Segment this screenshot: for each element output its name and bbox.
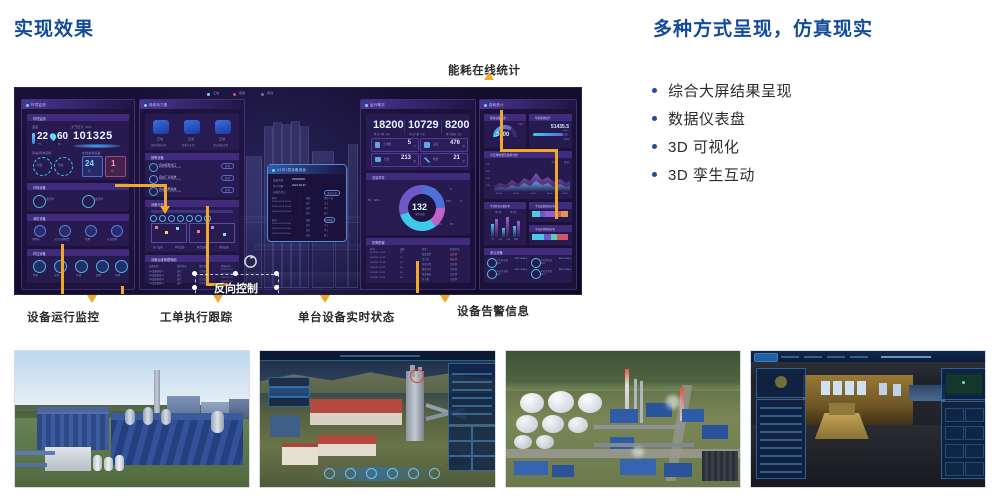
scene-metric-1 — [448, 426, 472, 441]
bullet-label: 综合大屏结果呈现 — [668, 80, 792, 101]
donut-value-4: 35 — [450, 223, 453, 226]
alarm-count-value: 1 — [111, 159, 115, 168]
wind-label: 风速/风向实时 — [32, 151, 52, 155]
resize-handle-ne[interactable] — [274, 271, 279, 276]
bullet-dot-icon — [652, 116, 657, 121]
tile-icon-1 — [153, 120, 169, 134]
gauge-pct: 70% — [518, 123, 523, 126]
alarm-action-button[interactable]: 处理 — [221, 187, 234, 193]
scene-menu-item-1[interactable] — [268, 377, 310, 387]
alarm-name: 自动报警出口 — [159, 163, 176, 167]
donut-label-2: 5% — [432, 188, 436, 191]
kpi-label-2: 今日产量（吨） — [409, 132, 426, 136]
callout-label-1: 设备运行监控 — [27, 309, 100, 325]
popup-field-label: 设备名称 — [273, 178, 283, 182]
callout-label-4: 设备告警信息 — [457, 303, 530, 319]
thermometer-icon — [32, 133, 35, 144]
gallery-item-3[interactable] — [505, 350, 741, 488]
arrow-head-down-icon — [440, 295, 450, 303]
section-title: 今日区域水量分析 — [484, 202, 526, 209]
temperature-value: 22 — [37, 131, 48, 142]
kpi-value-3: 8200 — [445, 119, 469, 131]
col-header: 设备名称 — [149, 264, 159, 268]
arrow-head-down-icon — [87, 295, 97, 303]
trend-area-svg — [494, 164, 570, 192]
arrow-head-down-icon — [320, 295, 330, 303]
panel-operations[interactable]: 网络电力图 正常 正常 正常 供电系统正常 给排水正常 空压系统正常 报警设备 … — [139, 99, 245, 290]
alarm-time: 2023-01-11 09:30:00 — [159, 191, 181, 193]
resize-handle-e[interactable] — [274, 285, 279, 290]
humidity-value: 60 — [57, 131, 68, 142]
col-header: 维修状态 — [177, 264, 187, 268]
chart-water-by-zone[interactable]: 今日区域水量分析 用水量 排水量 一区 二区 三区 四区 — [484, 202, 526, 245]
kpi-value-2: 10729 — [408, 119, 439, 131]
workorder-icon — [375, 142, 380, 148]
chart-device-energy-stack[interactable]: 今日设备能耗分析 — [529, 202, 572, 222]
list-item: 综合大屏结果呈现 — [652, 76, 982, 104]
alarm-time: 2023-01-11 09:30:00 — [159, 179, 181, 181]
temperature-unit: °C — [38, 142, 42, 146]
chart-category-energy-stack[interactable]: 今日分项能耗分析 — [529, 225, 572, 245]
key-devices-list[interactable]: 重点设备 1号空压机 运行 487.1 kW·h 1号冷冻机 运行 487.1 … — [484, 248, 572, 283]
list-item: 数据仪表盘 — [652, 104, 982, 132]
section-network-devices: 环网设备 运行中 运行中 — [27, 183, 129, 211]
donut-value-1: 83 — [368, 199, 371, 202]
arrow-head-down-icon — [213, 295, 223, 303]
popup-field-label: 运维负责人 — [273, 190, 286, 194]
chart-daily-power-trend[interactable]: 今日用电量及趋势分析 今日 昨日 600 450 300 150 00:00 — [484, 151, 572, 199]
donut-label-3: 10% — [446, 200, 452, 203]
section-title: 设备运维管理明细 — [145, 255, 239, 262]
section-title: 年度能耗统计 — [529, 114, 572, 121]
arrow-segment — [500, 149, 558, 152]
donut-chart-events[interactable]: 总量事件 132 事件总数 60% 83 5% 5 10% 9 25% 35 — [366, 173, 470, 235]
bullet-label: 3D 可视化 — [668, 136, 739, 157]
resize-handle-n[interactable] — [233, 271, 238, 276]
bullet-dot-icon — [652, 172, 657, 177]
gauge-wind-speed-label: 风速 — [37, 163, 42, 167]
scene-menu-item-2[interactable] — [268, 387, 310, 397]
panel-energy[interactable]: 能耗统计 能耗总量（度） 3000 kW·h 70% 年度能耗统计 51435.… — [479, 99, 577, 290]
progress-bar-track — [563, 133, 568, 136]
tile-icon-2 — [184, 120, 200, 134]
alarm-name: 自动厂房系统 — [159, 175, 176, 179]
scene-metric-4 — [472, 441, 495, 456]
popup-field-value: ZSM05866 — [292, 178, 305, 181]
scene-metric-6 — [472, 456, 495, 471]
alarm-count-unit: 台 — [111, 169, 114, 173]
donut-value-2: 5 — [450, 188, 452, 191]
gallery-item-4[interactable] — [750, 350, 986, 488]
pressure-glow — [73, 144, 121, 148]
alarm-icon — [375, 157, 381, 162]
legend-item-offline: 离线 — [267, 91, 273, 95]
section-title: 环网设备 — [27, 183, 129, 190]
scene-left-panel-top[interactable] — [756, 368, 806, 398]
section-environment-monitor: 环境监测 温度 大气压力（Pa） 22 °C 60 % 101325 风速/风向… — [27, 114, 129, 180]
reverse-control-label: 反向控制 — [214, 280, 258, 295]
callout-label-3: 单台设备实时状态 — [298, 309, 395, 325]
tile-icon-3 — [215, 120, 231, 134]
alarm-action-button[interactable]: 处理 — [221, 163, 234, 169]
online-count-value: 24 — [85, 159, 94, 168]
arrow-segment — [115, 184, 167, 187]
repair-icon — [424, 157, 430, 163]
arrow-segment — [164, 184, 167, 208]
scene-metric-2 — [472, 426, 495, 441]
page-title-left: 实现效果 — [14, 14, 94, 41]
list-item: 3D 孪生互动 — [652, 160, 982, 188]
alarm-device-list[interactable]: 报警设备 自动报警出口 2023-01-11 09:30:00 处理 自动厂房系… — [145, 153, 239, 197]
scene-menu-item-3[interactable] — [268, 397, 310, 407]
chimney — [154, 370, 160, 418]
section-fire-devices: 消防设备 消防栓 火灾自动报警 喷淋 应急照明 — [27, 214, 129, 246]
bar-unit: kW·h — [563, 130, 569, 132]
section-title: 总量事件 — [366, 173, 470, 180]
gauge-wind-speed — [33, 157, 52, 176]
bullet-label: 数据仪表盘 — [668, 108, 746, 129]
arrow-segment — [555, 149, 558, 219]
arrow-head-up-icon — [484, 72, 494, 80]
section-title: 环控设备 — [27, 249, 129, 256]
section-title: 重点设备 — [484, 248, 572, 255]
app-logo — [754, 353, 778, 362]
alarm-name: 自动照明系统 — [159, 187, 176, 191]
arrow-segment — [121, 286, 124, 294]
legend-item-normal: 正常 — [213, 91, 219, 95]
scene-right-panel[interactable] — [448, 363, 495, 425]
section-title: 消防设备 — [27, 214, 129, 221]
callout-label-2: 工单执行跟踪 — [160, 309, 233, 325]
section-hvac-devices: 环控设备 风机 水泵 空调 照明 新风 — [27, 249, 129, 283]
page-title-right: 多种方式呈现，仿真现实 — [653, 14, 873, 41]
refresh-icon[interactable] — [243, 254, 258, 269]
reverse-control-marker[interactable]: 反向控制 — [191, 270, 281, 295]
section-title: 今日用电量及趋势分析 — [484, 151, 572, 158]
gauge-wind-direction-label: 风向 — [58, 163, 63, 167]
scene-right-minimap[interactable] — [941, 368, 986, 400]
mini-stat-3[interactable]: 告警 213 条 — [371, 153, 419, 167]
online-device-label: 在线监测设备 — [82, 151, 101, 155]
mini-stat-4[interactable]: 维修 21 次 — [420, 153, 468, 167]
online-count-unit: 台 — [88, 169, 91, 173]
tile-label-2: 正常 — [188, 137, 194, 141]
donut-label-4: 25% — [436, 223, 442, 226]
legend-running: 运行设备 — [153, 245, 163, 249]
gauge-energy-total: 能耗总量（度） 3000 kW·h 70% — [484, 114, 526, 148]
kpi-block: 18200 10729 8200 累计产量（吨） 今日产量（吨） 累计耗能（度）… — [366, 114, 470, 170]
bullet-label: 3D 孪生互动 — [668, 164, 755, 185]
section-title: 今日设备能耗分析 — [529, 202, 572, 209]
popup-title: A1号1层设备用途 — [268, 165, 346, 174]
donut-center-label: 事件总数 — [415, 212, 425, 216]
progress-bar-fill — [533, 133, 563, 136]
popup-field-label: 生产日期 — [273, 184, 283, 188]
gallery-item-2[interactable] — [259, 350, 495, 488]
panel-title: 网络电力图 — [140, 100, 244, 109]
device-detail-popup[interactable]: A1号1层设备用途 设备名称 ZSM05866 生产日期 2022-08-23 … — [267, 164, 347, 242]
mini-stat-2[interactable]: 设备 476 台 — [420, 138, 468, 152]
device-icon — [424, 142, 430, 148]
temp-label: 温度 — [32, 125, 38, 129]
alarm-time: 2023-01-11 09:30:00 — [159, 167, 181, 169]
scene-right-camera-grid[interactable] — [941, 401, 986, 479]
resize-handle-w[interactable] — [192, 285, 197, 290]
gallery-item-1[interactable] — [14, 350, 250, 488]
legend-offline: 离线设备 — [219, 245, 229, 249]
popup-field-value: 2022-08-23 — [292, 184, 306, 187]
donut-value-3: 9 — [460, 200, 462, 203]
status-tiles: 正常 正常 正常 供电系统正常 给排水正常 空压系统正常 — [145, 114, 239, 150]
kpi-label-3: 累计耗能（度） — [446, 132, 463, 136]
humidity-unit: % — [58, 142, 61, 146]
gallery-strip — [14, 350, 986, 486]
feature-bullet-list: 综合大屏结果呈现 数据仪表盘 3D 可视化 3D 孪生互动 — [652, 76, 982, 188]
arrow-segment — [61, 244, 64, 295]
alarm-action-button[interactable]: 处理 — [221, 175, 234, 181]
kpi-value-1: 18200 — [373, 119, 404, 131]
arrow-segment — [416, 261, 419, 293]
section-title: 能耗总量（度） — [484, 114, 526, 121]
mini-stat-1[interactable]: 工单数 5 个 — [371, 138, 419, 152]
bullet-dot-icon — [652, 88, 657, 93]
donut-label-1: 60% — [374, 199, 380, 202]
scene-metric-5 — [448, 456, 472, 471]
section-title: 告警配置 — [366, 238, 470, 245]
kpi-label-1: 累计产量（吨） — [374, 132, 391, 136]
pressure-value: 101325 — [73, 130, 113, 142]
bar-energy-year: 年度能耗统计 51435.5 81% kW·h — [529, 114, 572, 148]
panel-environment[interactable]: 环境监测 环境监测 温度 大气压力（Pa） 22 °C 60 % 101325 … — [21, 99, 135, 290]
col-header: 更新时间 — [221, 264, 231, 268]
section-title: 报警设备 — [145, 153, 239, 160]
tile-label-3: 正常 — [219, 137, 225, 141]
section-title: 今日分项能耗分析 — [529, 225, 572, 232]
arrow-segment — [500, 110, 503, 152]
section-title: 环境监测 — [27, 114, 129, 121]
legend-item-alarm: 报警 — [239, 91, 245, 95]
panel-title: 运行概况 — [361, 100, 475, 109]
resize-handle-nw[interactable] — [192, 271, 197, 276]
scene-metric-3 — [448, 441, 472, 456]
tile-label-1: 正常 — [157, 137, 163, 141]
arrow-head-down-icon — [160, 206, 170, 214]
panel-title: 环境监测 — [22, 100, 134, 109]
gauge-wind-direction — [54, 157, 73, 176]
bullet-dot-icon — [652, 144, 657, 149]
bar-pct: 81% — [564, 138, 569, 141]
pressure-label: 大气压力（Pa） — [71, 125, 93, 129]
count-tile-2 — [105, 156, 126, 177]
donut-center-value: 132 — [412, 202, 427, 212]
dashboard-screenshot[interactable]: 正常 报警 离线 环境监测 环境监测 温度 大气压力（Pa） 22 °C 60 … — [14, 87, 582, 295]
panel-title: 能耗统计 — [480, 100, 576, 109]
list-item: 3D 可视化 — [652, 132, 982, 160]
scene-left-panel-list[interactable] — [756, 399, 806, 479]
legend-stopped: 停机设备 — [175, 245, 185, 249]
